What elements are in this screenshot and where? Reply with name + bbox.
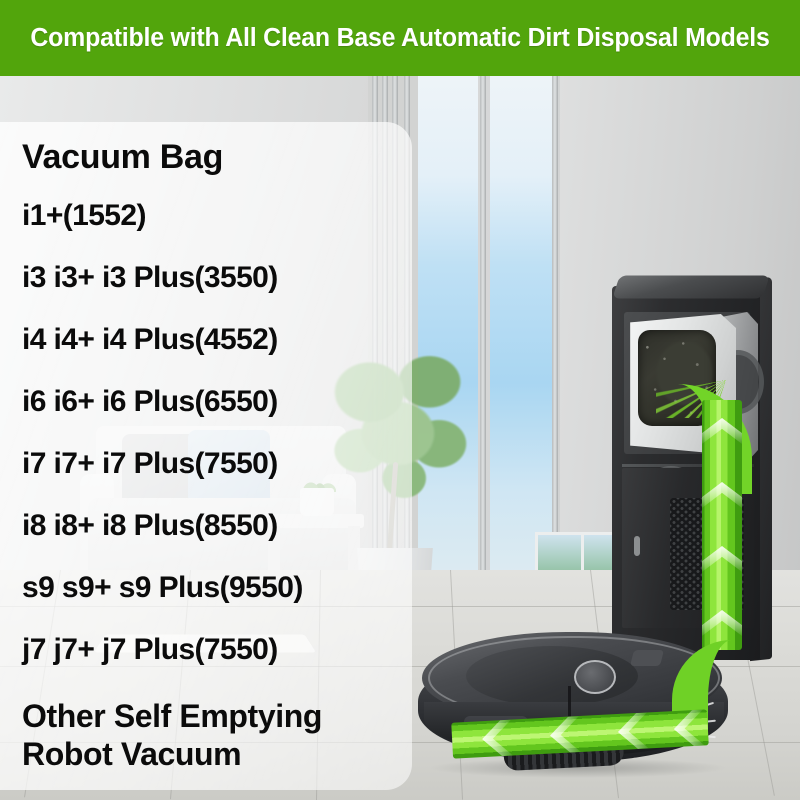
model-line: i1+(1552) — [22, 199, 146, 233]
robot-latch-marking — [492, 728, 498, 740]
clean-base-dock — [612, 268, 772, 660]
model-line: i6 i6+ i6 Plus(6550) — [22, 385, 278, 419]
dock-seam — [622, 464, 754, 467]
model-line: i7 i7+ i7 Plus(7550) — [22, 447, 278, 481]
dock-vent-grille — [670, 498, 744, 610]
model-line: i3 i3+ i3 Plus(3550) — [22, 261, 278, 295]
header-banner: Compatible with All Clean Base Automatic… — [0, 0, 800, 76]
door-mullion — [480, 74, 486, 634]
dock-top-cover — [612, 276, 769, 299]
robot-bin-seam — [568, 686, 571, 744]
compatibility-list: Vacuum Bag i1+(1552) i3 i3+ i3 Plus(3550… — [0, 122, 420, 790]
banner-title: Compatible with All Clean Base Automatic… — [10, 24, 790, 53]
airflow-fibers-in-bag — [656, 342, 726, 418]
robot-vacuum — [418, 624, 748, 784]
footer-line: Other Self Emptying — [22, 698, 322, 735]
model-line: j7 j7+ j7 Plus(7550) — [22, 633, 278, 667]
model-line: i8 i8+ i8 Plus(8550) — [22, 509, 278, 543]
footer-line: Robot Vacuum — [22, 736, 241, 773]
model-line: s9 s9+ s9 Plus(9550) — [22, 571, 303, 605]
product-infographic: Vacuum Bag i1+(1552) i3 i3+ i3 Plus(3550… — [0, 0, 800, 800]
model-line: i4 i4+ i4 Plus(4552) — [22, 323, 278, 357]
panel-heading: Vacuum Bag — [22, 138, 223, 177]
robot-control-pad[interactable] — [630, 650, 664, 666]
dock-indicator-button[interactable] — [634, 536, 640, 556]
robot-clean-button-icon[interactable] — [574, 660, 616, 694]
